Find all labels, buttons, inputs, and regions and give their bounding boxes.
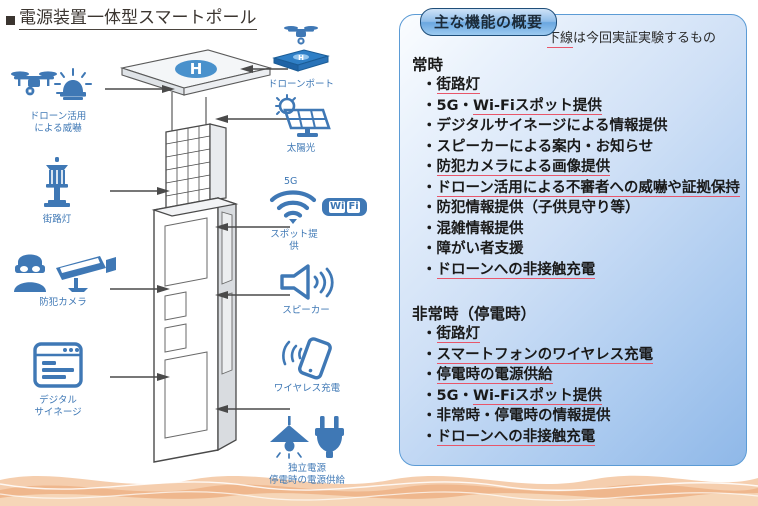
list-item: ・スマートフォンのワイヤレス充電 — [422, 346, 746, 366]
feature-label: ドローンポート — [268, 79, 334, 91]
feature-label: 街路灯 — [43, 214, 72, 226]
page-title: 電源装置一体型スマートポール — [6, 8, 257, 30]
page-title-text: 電源装置一体型スマートポール — [19, 8, 257, 30]
legend-note: 下線は今回実証実験するもの — [547, 27, 716, 46]
arrow-digital-signage — [110, 372, 170, 382]
list-item: ・ドローン活用による不審者への威嚇や証拠保持 — [422, 179, 746, 199]
arrow-streetlight — [110, 186, 170, 196]
section-heading: 非常時（停電時） — [412, 302, 746, 324]
feature-solar[interactable]: 太陽光 — [266, 94, 336, 155]
feature-label: デジタル サイネージ — [34, 395, 81, 418]
feature-streetlight[interactable]: 街路灯 — [22, 155, 92, 226]
arrow-security-camera — [110, 284, 170, 294]
feature-security-camera[interactable]: 防犯カメラ — [8, 246, 118, 309]
section-normal: 常時 ・街路灯 ・5G・Wi-Fiスポット提供 ・デジタルサイネージによる情報提… — [400, 53, 746, 281]
drone-siren-icon — [8, 62, 108, 108]
wifi-badge: Wi Fi — [322, 198, 367, 216]
section-emergency: 非常時（停電時） ・街路灯 ・スマートフォンのワイヤレス充電 ・停電時の電源供給… — [400, 302, 746, 448]
list-item: ・混雑情報提供 — [422, 220, 746, 240]
svg-text:H: H — [190, 60, 203, 78]
feature-label: スピーカー — [282, 305, 330, 317]
list-item: ・街路灯 — [422, 325, 746, 345]
solar-louvre-module — [166, 124, 226, 210]
thief-camera-icon — [8, 246, 118, 294]
list-item: ・停電時の電源供給 — [422, 366, 746, 386]
feature-drone-threat[interactable]: ドローン活用 による威嚇 — [8, 62, 108, 134]
list-item: ・ドローンへの非接触充電 — [422, 428, 746, 448]
wifi-icon — [268, 188, 318, 226]
arrow-drone-threat — [105, 84, 175, 94]
feature-speaker[interactable]: スピーカー — [268, 264, 344, 317]
list-item: ・スピーカーによる案内・お知らせ — [422, 138, 746, 158]
drone-port-h-label: H — [298, 54, 304, 62]
list-item: ・防犯カメラによる画像提供 — [422, 158, 746, 178]
slide-root: 電源装置一体型スマートポール H — [0, 0, 758, 506]
list-item: ・デジタルサイネージによる情報提供 — [422, 117, 746, 137]
feature-label: スポット提供 — [268, 229, 320, 252]
feature-wireless-charge[interactable]: ワイヤレス充電 — [262, 336, 352, 395]
pole-body — [154, 198, 236, 462]
title-bullet-icon — [6, 16, 15, 25]
feature-label: 独立電源 停電時の電源供給 — [269, 463, 345, 486]
feature-digital-signage[interactable]: デジタル サイネージ — [18, 340, 98, 418]
speaker-icon — [276, 264, 336, 302]
list-item: ・非常時・停電時の情報提供 — [422, 407, 746, 427]
panel-title-badge: 主な機能の概要 — [420, 8, 557, 36]
feature-independent-power[interactable]: 独立電源 停電時の電源供給 — [252, 414, 362, 486]
signage-icon — [29, 340, 87, 392]
section-heading: 常時 — [412, 53, 746, 75]
list-item: ・5G・Wi-Fiスポット提供 — [422, 97, 746, 117]
feature-label: ドローン活用 による威嚇 — [30, 111, 87, 134]
wireless-charging-icon — [276, 336, 338, 380]
streetlamp-icon — [29, 155, 85, 211]
feature-label: 防犯カメラ — [39, 297, 87, 309]
drone-port-icon: H — [266, 24, 336, 76]
arrow-independent-power — [215, 404, 290, 414]
lamp-plug-icon — [262, 414, 352, 460]
list-item: ・防犯情報提供（子供見守り等） — [422, 199, 746, 219]
feature-label: ワイヤレス充電 — [274, 383, 340, 395]
list-item: ・障がい者支援 — [422, 240, 746, 260]
feature-drone-port[interactable]: H ドローンポート — [258, 24, 344, 91]
list-item: ・ドローンへの非接触充電 — [422, 261, 746, 281]
solar-panel-icon — [269, 94, 333, 140]
wifi-5g-label: 5G — [284, 176, 297, 187]
legend-note-rest: は今回実証実験するもの — [573, 31, 716, 46]
list-item: ・5G・Wi-Fiスポット提供 — [422, 387, 746, 407]
list-item: ・街路灯 — [422, 76, 746, 96]
feature-wifi-spot[interactable]: 5G Wi Fi スポット提供 — [268, 176, 364, 252]
features-summary-panel: 下線は今回実証実験するもの 常時 ・街路灯 ・5G・Wi-Fiスポット提供 ・デ… — [399, 14, 747, 466]
feature-label: 太陽光 — [287, 143, 316, 155]
